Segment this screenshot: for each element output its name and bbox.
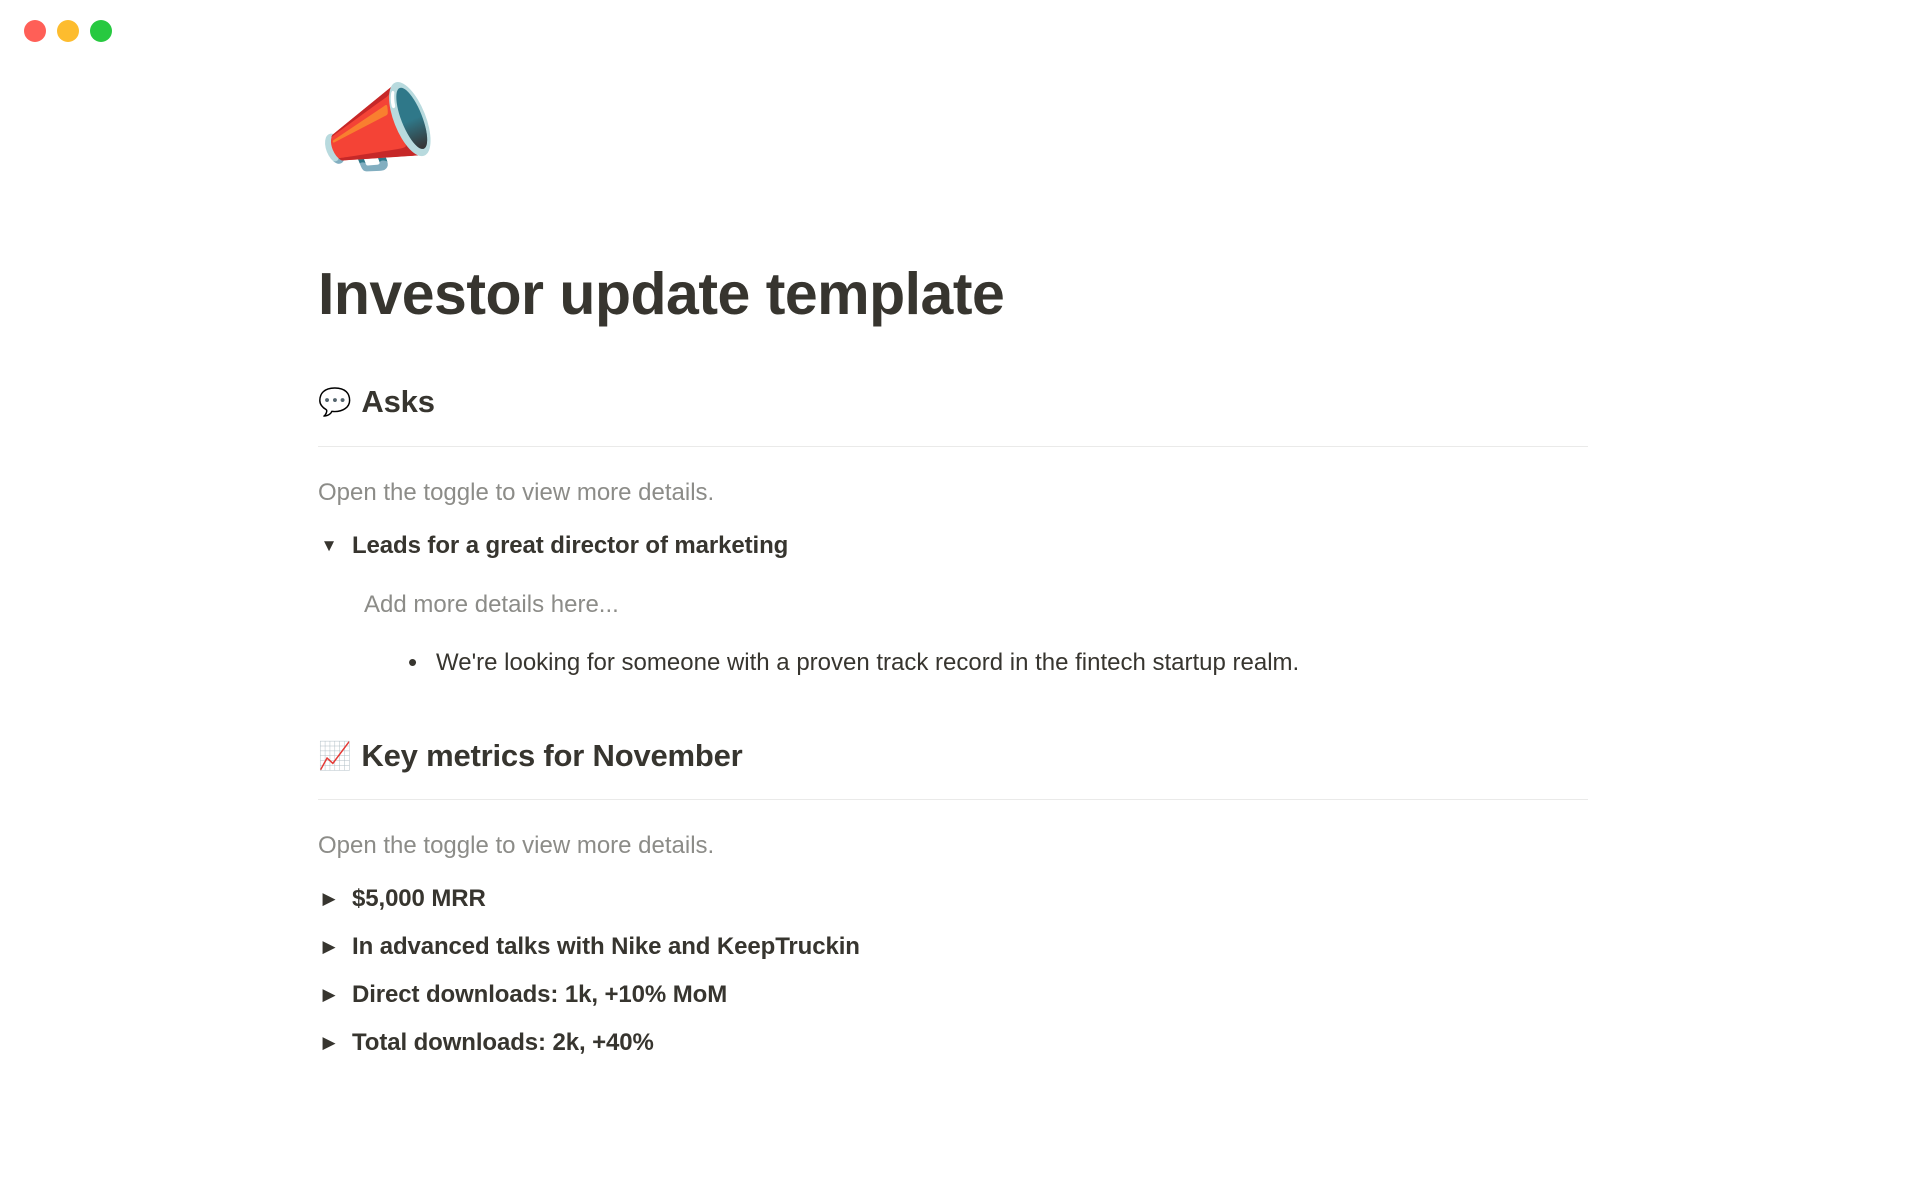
speech-balloon-emoji: 💬 [318,389,351,416]
chevron-right-icon[interactable]: ▶ [318,931,340,963]
maximize-window-button[interactable] [90,20,112,42]
minimize-window-button[interactable] [57,20,79,42]
megaphone-emoji[interactable]: 📣 [318,82,1920,202]
toggle-item-label[interactable]: In advanced talks with Nike and KeepTruc… [352,931,860,963]
toggle-children: Add more details here... We're looking f… [364,587,1588,681]
section-asks: 💬 Asks Open the toggle to view more deta… [318,383,1588,681]
section-hint: Open the toggle to view more details. [318,828,1588,864]
section-divider [318,799,1588,800]
chevron-right-icon[interactable]: ▶ [318,883,340,915]
toggle-item-mrr[interactable]: ▶ $5,000 MRR [318,878,1588,920]
toggle-list-key-metrics: ▶ $5,000 MRR ▶ In advanced talks with Ni… [318,878,1588,1064]
page-title[interactable]: Investor update template [318,262,1920,327]
window-titlebar [0,0,1920,62]
section-divider [318,446,1588,447]
section-hint: Open the toggle to view more details. [318,475,1588,511]
chevron-down-icon[interactable]: ▼ [318,530,340,562]
toggle-item-label[interactable]: Leads for a great director of marketing [352,530,788,562]
chart-increasing-emoji: 📈 [318,743,351,770]
toggle-item-label[interactable]: $5,000 MRR [352,883,486,915]
toggle-item-advanced-talks[interactable]: ▶ In advanced talks with Nike and KeepTr… [318,926,1588,968]
toggle-item-direct-downloads[interactable]: ▶ Direct downloads: 1k, +10% MoM [318,974,1588,1016]
section-heading-asks: 💬 Asks [318,383,1588,422]
toggle-item[interactable]: ▼ Leads for a great director of marketin… [318,525,1588,567]
bullet-list: We're looking for someone with a proven … [406,641,1588,681]
toggle-item-label[interactable]: Total downloads: 2k, +40% [352,1027,654,1059]
toggle-item-label[interactable]: Direct downloads: 1k, +10% MoM [352,979,727,1011]
section-heading-label: Asks [361,383,434,422]
close-window-button[interactable] [24,20,46,42]
section-heading-key-metrics: 📈 Key metrics for November [318,737,1588,776]
chevron-right-icon[interactable]: ▶ [318,979,340,1011]
document-page: 📣 Investor update template 💬 Asks Open t… [0,62,1920,1064]
app-window: 📣 Investor update template 💬 Asks Open t… [0,0,1920,1200]
toggle-item-total-downloads[interactable]: ▶ Total downloads: 2k, +40% [318,1022,1588,1064]
section-key-metrics: 📈 Key metrics for November Open the togg… [318,737,1588,1065]
toggle-child-placeholder[interactable]: Add more details here... [364,587,1588,623]
toggle-list-asks: ▼ Leads for a great director of marketin… [318,525,1588,681]
chevron-right-icon[interactable]: ▶ [318,1027,340,1059]
list-item[interactable]: We're looking for someone with a proven … [406,641,1588,681]
section-heading-label: Key metrics for November [361,737,742,776]
